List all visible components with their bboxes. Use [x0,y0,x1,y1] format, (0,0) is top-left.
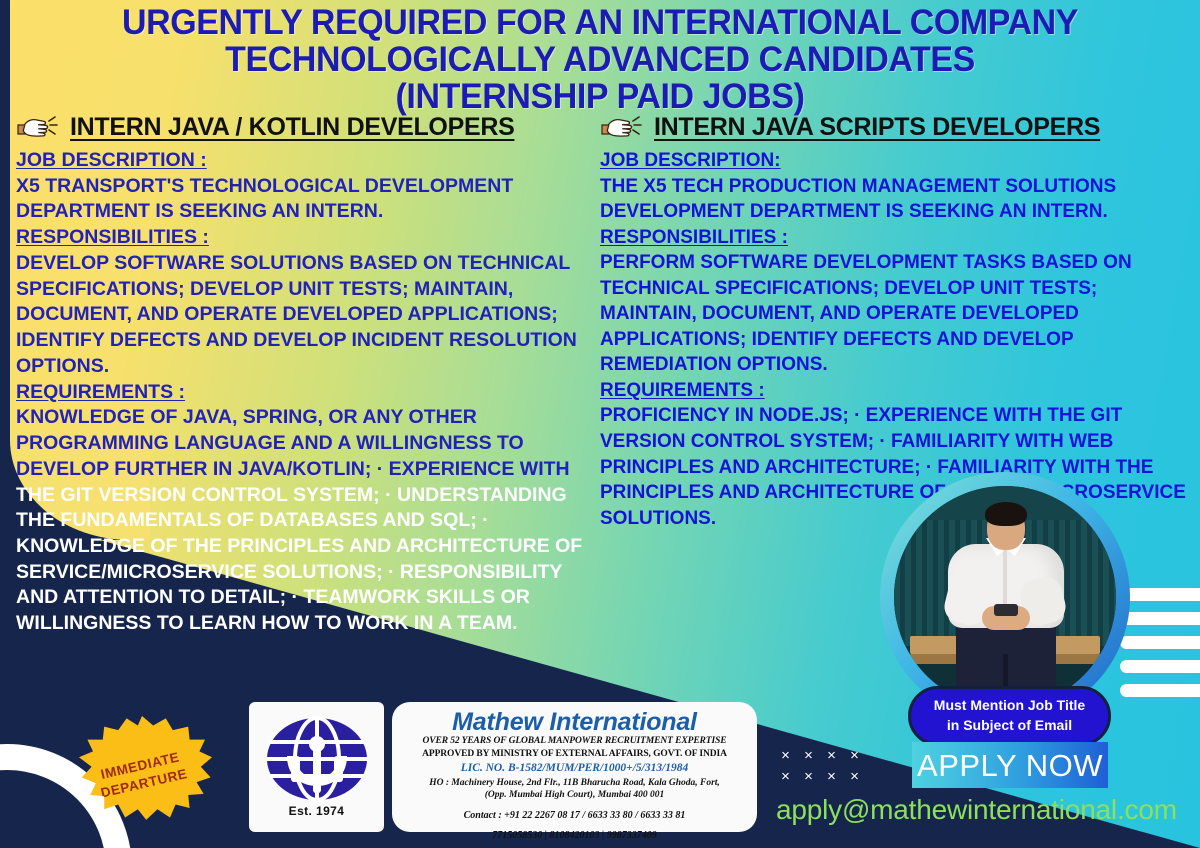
job-description-text: X5 TRANSPORT'S TECHNOLOGICAL DEVELOPMENT… [16,174,606,225]
subject-note-pill: Must Mention Job Title in Subject of Ema… [908,686,1111,746]
responsibilities-text: PERFORM SOFTWARE DEVELOPMENT TASKS BASED… [600,250,1196,378]
subject-note-text: Must Mention Job Title in Subject of Ema… [934,696,1085,736]
photo-image [894,486,1116,708]
x-mark-icon: × [824,769,839,784]
agency-approval: APPROVED BY MINISTRY OF EXTERNAL AFFAIRS… [400,748,749,760]
requirements-text-part1: KNOWLEDGE OF JAVA, SPRING, OR ANY OTHER … [16,405,606,482]
x-mark-icon: × [778,748,793,763]
apply-now-label: APPLY NOW [917,750,1103,781]
agency-name: Mathew International [400,709,749,735]
x-mark-icon: × [824,748,839,763]
poster-header: URGENTLY REQUIRED FOR AN INTERNATIONAL C… [10,4,1190,115]
requirements-label: REQUIREMENTS : [16,380,606,406]
agency-address-line-2: (Opp. Mumbai High Court), Mumbai 400 001 [400,789,749,802]
recruitment-poster: URGENTLY REQUIRED FOR AN INTERNATIONAL C… [0,0,1200,848]
column-title: INTERN JAVA / KOTLIN DEVELOPERS [70,113,514,142]
column-heading-row: INTERN JAVA SCRIPTS DEVELOPERS [600,112,1196,142]
established-label: Est. 1974 [289,804,345,818]
x-mark-icon: × [801,748,816,763]
job-description-label: JOB DESCRIPTION: [600,148,1196,174]
job-column-java-kotlin: INTERN JAVA / KOTLIN DEVELOPERS JOB DESC… [16,112,606,637]
requirements-text-part2: THE GIT VERSION CONTROL SYSTEM; · UNDERS… [16,483,606,637]
pointing-hand-icon [600,112,642,142]
x-mark-icon: × [801,769,816,784]
apply-now-button[interactable]: APPLY NOW [912,742,1108,788]
job-description-text: THE X5 TECH PRODUCTION MANAGEMENT SOLUTI… [600,174,1196,225]
agency-info-card: Mathew International OVER 52 YEARS OF GL… [392,702,757,832]
agency-license: LIC. NO. B-1582/MUM/PER/1000+/5/313/1984 [400,760,749,777]
candidate-photo [880,472,1130,722]
responsibilities-text: DEVELOP SOFTWARE SOLUTIONS BASED ON TECH… [16,251,606,380]
column-heading-row: INTERN JAVA / KOTLIN DEVELOPERS [16,112,606,142]
globe-logo-icon [265,716,369,802]
title-line-2: TECHNOLOGICALLY ADVANCED CANDIDATES [28,41,1173,78]
responsibilities-label: RESPONSIBILITIES : [16,225,606,251]
job-description-label: JOB DESCRIPTION : [16,148,606,174]
x-mark-icon: × [847,769,862,784]
agency-contact-line-2: 7715058530 | 8108420103 | 9987337409 [400,829,749,843]
apply-email-link[interactable]: apply@mathewinternational.com [776,794,1200,826]
column-body: JOB DESCRIPTION : X5 TRANSPORT'S TECHNOL… [16,148,606,637]
pointing-hand-icon [16,112,58,142]
title-line-3: (INTERNSHIP PAID JOBS) [28,78,1173,115]
agency-tagline: OVER 52 YEARS OF GLOBAL MANPOWER RECRUIT… [400,735,749,747]
x-mark-icon: × [778,769,793,784]
subject-note-line-2: in Subject of Email [934,716,1085,736]
job-column-javascript: INTERN JAVA SCRIPTS DEVELOPERS JOB DESCR… [600,112,1196,531]
page-title: URGENTLY REQUIRED FOR AN INTERNATIONAL C… [28,4,1173,115]
x-mark-icon: × [847,748,862,763]
wave-lines-decoration [1120,588,1200,710]
x-marks-decoration: × × × × × × × × [778,748,862,784]
badge-text: IMMEDIATE DEPARTURE [95,747,189,802]
agency-contact-line-1: Contact : +91 22 2267 08 17 / 6633 33 80… [400,809,749,823]
agency-logo-card: Est. 1974 [249,702,384,832]
requirements-label: REQUIREMENTS : [600,378,1196,404]
title-line-1: URGENTLY REQUIRED FOR AN INTERNATIONAL C… [28,4,1173,41]
subject-note-line-1: Must Mention Job Title [934,696,1085,716]
responsibilities-label: RESPONSIBILITIES : [600,225,1196,251]
column-title: INTERN JAVA SCRIPTS DEVELOPERS [654,113,1100,142]
agency-address-line-1: HO : Machinery House, 2nd Flr., 11B Bhar… [400,777,749,790]
